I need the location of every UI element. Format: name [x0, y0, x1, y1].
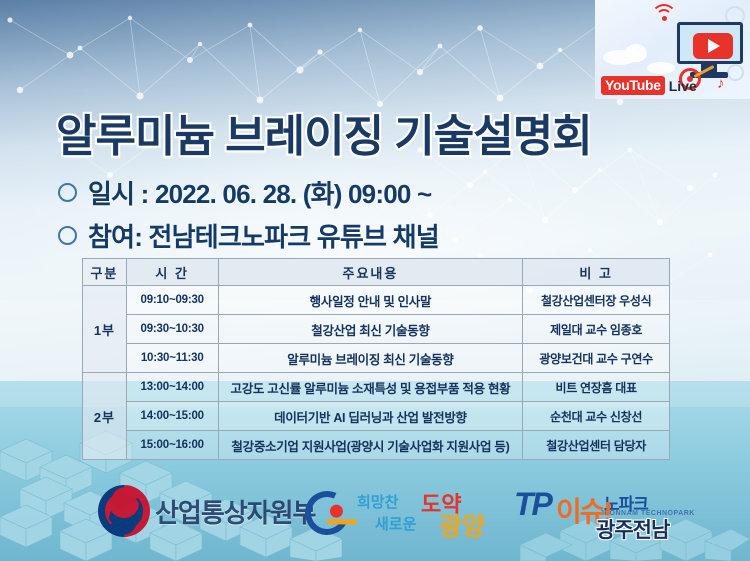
table-row: 09:30~10:30 철강산업 최신 기술동향 제일대 교수 임종호 [83, 315, 670, 344]
header-note: 비 고 [523, 259, 670, 286]
gwangyang-bar-icon [327, 519, 357, 524]
table-row: 2부 13:00~14:00 고강도 고신률 알루미늄 소재특성 및 용접부품 … [83, 373, 670, 402]
logo-gwangyang-city: 희망찬 도약 새로운 광양 [305, 485, 510, 541]
row-content: 철강산업 최신 기술동향 [218, 315, 523, 344]
logo-jeonnam-technopark: 노파크 JEONNAM TECHNOPARK TP 이슈! 광주전남 [512, 481, 692, 537]
gwangyang-dot-icon [330, 505, 343, 518]
youtube-live-label: YouTube Live [601, 76, 697, 95]
music-note-icon: ♪ [717, 76, 725, 91]
row-note: 광양보건대 교수 구연수 [523, 344, 670, 373]
cloud-shape [647, 62, 675, 74]
live-label: Live [669, 79, 697, 93]
wifi-dot-icon [662, 16, 667, 21]
header-time: 시 간 [126, 259, 218, 286]
table-row: 14:00~15:00 데이터기반 AI 딥러닝과 산업 발전방향 순천대 교수… [83, 402, 670, 431]
gwangyang-emblem-icon [299, 485, 355, 541]
event-channel-text: 참여: 전남테크노파크 유튜브 채널 [88, 217, 439, 254]
row-note: 비트 연장흠 대표 [523, 373, 670, 402]
row-content: 고강도 고신률 알루미늄 소재특성 및 용접부품 적용 현황 [218, 373, 523, 402]
part-label-second: 2부 [83, 373, 127, 460]
sponsor-logos: 산업통상자원부 희망찬 도약 새로운 광양 노파크 JEONNAM TECHNO… [0, 481, 750, 545]
event-date-line: 일시 : 2022. 06. 28. (화) 09:00 ~ [58, 174, 431, 211]
taegeuk-icon [98, 485, 150, 537]
page-title: 알루미늄 브레이징 기술설명회 [56, 100, 592, 164]
event-channel-line: 참여: 전남테크노파크 유튜브 채널 [58, 217, 439, 254]
gwangyang-slogan-word-1: 희망찬 [357, 491, 398, 512]
gwangyang-slogan-word-4: 광양 [439, 507, 485, 543]
row-content: 데이터기반 AI 딥러닝과 산업 발전방향 [218, 402, 523, 431]
table-header-row: 구분 시 간 주요내용 비 고 [83, 259, 670, 286]
row-time: 13:00~14:00 [126, 373, 218, 402]
row-note: 철강산업센터 담당자 [523, 431, 670, 460]
ministry-name-label: 산업통상자원부 [155, 493, 315, 530]
play-button-icon [693, 33, 733, 59]
event-date-text: 일시 : 2022. 06. 28. (화) 09:00 ~ [88, 174, 431, 211]
part-label-first: 1부 [83, 286, 127, 373]
row-content: 철강중소기업 지원사업(광양시 기술사업화 지원사업 등) [218, 431, 523, 460]
youtube-brand-label: YouTube [601, 76, 665, 95]
circle-bullet-icon [58, 183, 77, 202]
schedule-table: 구분 시 간 주요내용 비 고 1부 09:10~09:30 행사일정 안내 및… [82, 258, 670, 460]
gwangyang-slogan-word-3: 새로운 [375, 513, 416, 534]
table-row: 1부 09:10~09:30 행사일정 안내 및 인사말 철강산업센터장 우성식 [83, 286, 670, 315]
gear-icon [727, 64, 744, 81]
header-content: 주요내용 [218, 259, 523, 286]
row-time: 10:30~11:30 [126, 344, 218, 373]
row-time: 15:00~16:00 [126, 431, 218, 460]
monitor-icon [677, 22, 743, 64]
jntp-region-label: 광주전남 [596, 514, 669, 544]
row-note: 순천대 교수 신창선 [523, 402, 670, 431]
event-poster: ♪ YouTube Live 알루미늄 브레이징 기술설명회 일시 : 2022… [0, 0, 750, 561]
jntp-tp-label: TP [514, 486, 551, 523]
row-note: 제일대 교수 임종호 [523, 315, 670, 344]
circle-bullet-icon [58, 226, 77, 245]
youtube-live-banner: ♪ YouTube Live [595, 0, 750, 99]
table-row: 10:30~11:30 알루미늄 브레이징 최신 기술동향 광양보건대 교수 구… [83, 344, 670, 373]
row-note: 철강산업센터장 우성식 [523, 286, 670, 315]
table-row: 15:00~16:00 철강중소기업 지원사업(광양시 기술사업화 지원사업 등… [83, 431, 670, 460]
row-time: 09:10~09:30 [126, 286, 218, 315]
logo-ministry-of-trade-industry-energy: 산업통상자원부 [98, 483, 315, 539]
row-time: 09:30~10:30 [126, 315, 218, 344]
row-content: 알루미늄 브레이징 최신 기술동향 [218, 344, 523, 373]
header-part: 구분 [83, 259, 127, 286]
row-time: 14:00~15:00 [126, 402, 218, 431]
gwangyang-slogan: 희망찬 도약 새로운 광양 [355, 487, 510, 539]
cloud-shape [625, 44, 647, 62]
row-content: 행사일정 안내 및 인사말 [218, 286, 523, 315]
